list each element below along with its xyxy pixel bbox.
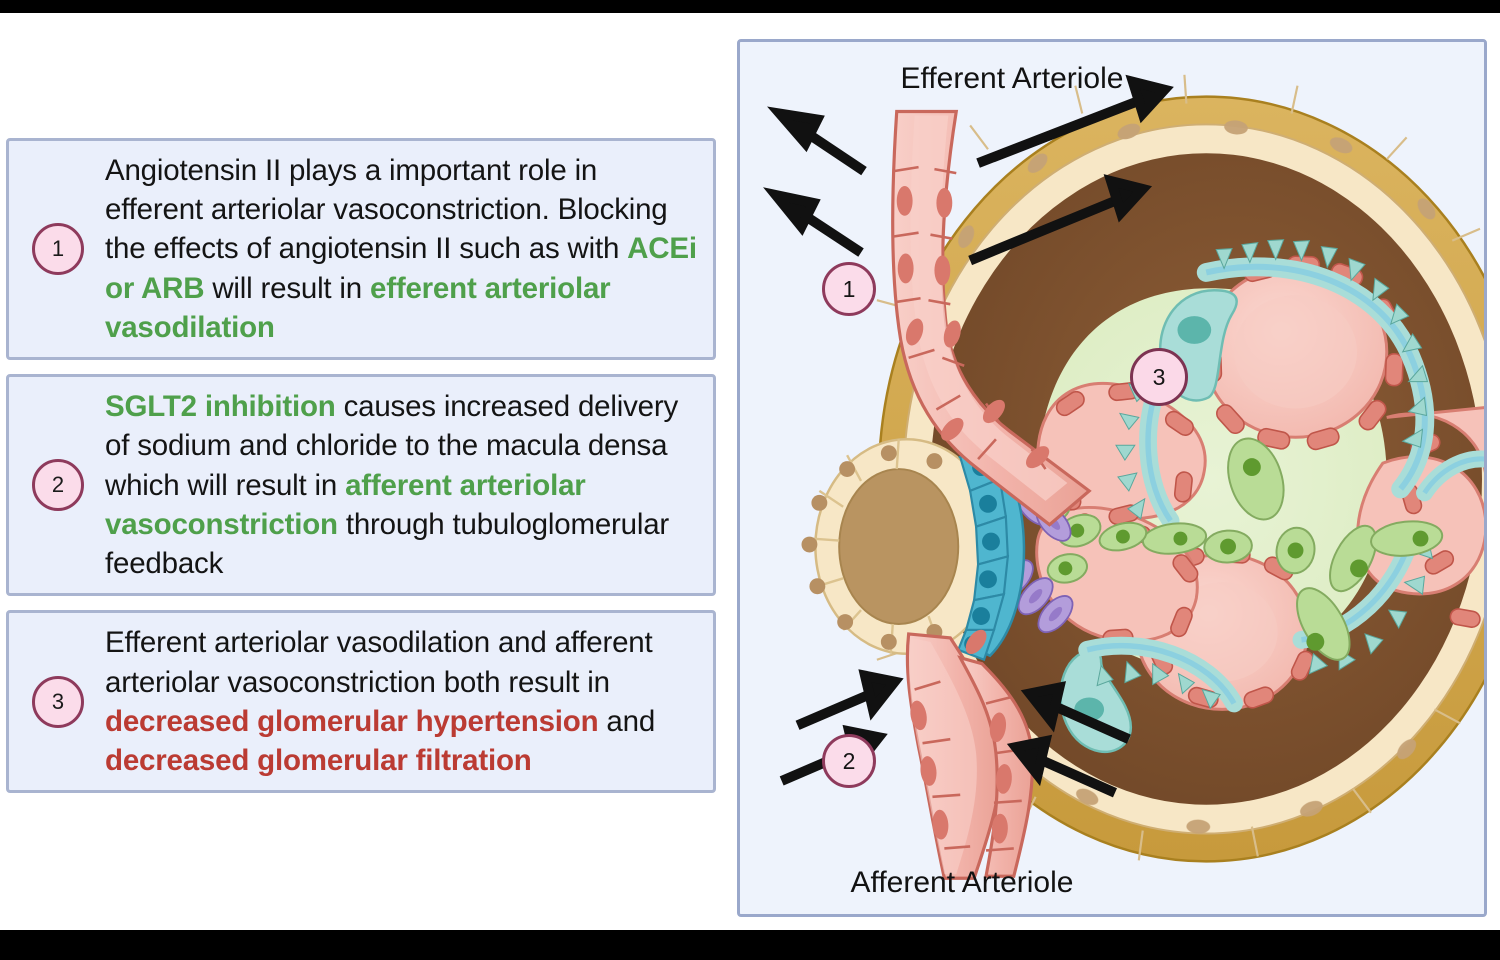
callout-3-seg-2: and: [598, 705, 655, 738]
callout-2: 2 SGLT2 inhibition causes increased deli…: [6, 374, 716, 596]
callout-text-1: Angiotensin II plays a important role in…: [105, 151, 701, 347]
label-efferent-arteriole: Efferent Arteriole: [737, 62, 1384, 96]
tubule-lumen: [839, 469, 958, 624]
callout-1-seg-2: will result in: [204, 272, 370, 305]
panel-badge-2: 2: [822, 734, 876, 788]
callout-1-seg-0: Angiotensin II plays a important role in…: [105, 154, 668, 265]
callout-text-2: SGLT2 inhibition causes increased delive…: [105, 387, 701, 583]
glomerulus-diagram-panel: Efferent Arteriole Afferent Arteriole 1 …: [737, 39, 1487, 917]
callout-3: 3 Efferent arteriolar vasodilation and a…: [6, 610, 716, 793]
callout-badge-2: 2: [32, 459, 84, 511]
callout-3-seg-1: decreased glomerular hypertension: [105, 705, 598, 738]
panel-badge-3: 3: [1130, 348, 1188, 406]
callout-3-seg-0: Efferent arteriolar vasodilation and aff…: [105, 626, 652, 698]
podocyte-nucleus-top: [1177, 316, 1211, 344]
callout-badge-3: 3: [32, 676, 84, 728]
figure-content: 1 Angiotensin II plays a important role …: [0, 13, 1500, 930]
callout-list: 1 Angiotensin II plays a important role …: [6, 138, 716, 807]
callout-badge-1: 1: [32, 223, 84, 275]
label-afferent-arteriole: Afferent Arteriole: [737, 866, 1334, 900]
callout-2-seg-0: SGLT2 inhibition: [105, 390, 336, 423]
callout-3-seg-3: decreased glomerular filtration: [105, 744, 532, 777]
panel-badge-1: 1: [822, 262, 876, 316]
callout-text-3: Efferent arteriolar vasodilation and aff…: [105, 623, 701, 780]
figure-stage: 1 Angiotensin II plays a important role …: [0, 0, 1500, 960]
callout-1: 1 Angiotensin II plays a important role …: [6, 138, 716, 360]
